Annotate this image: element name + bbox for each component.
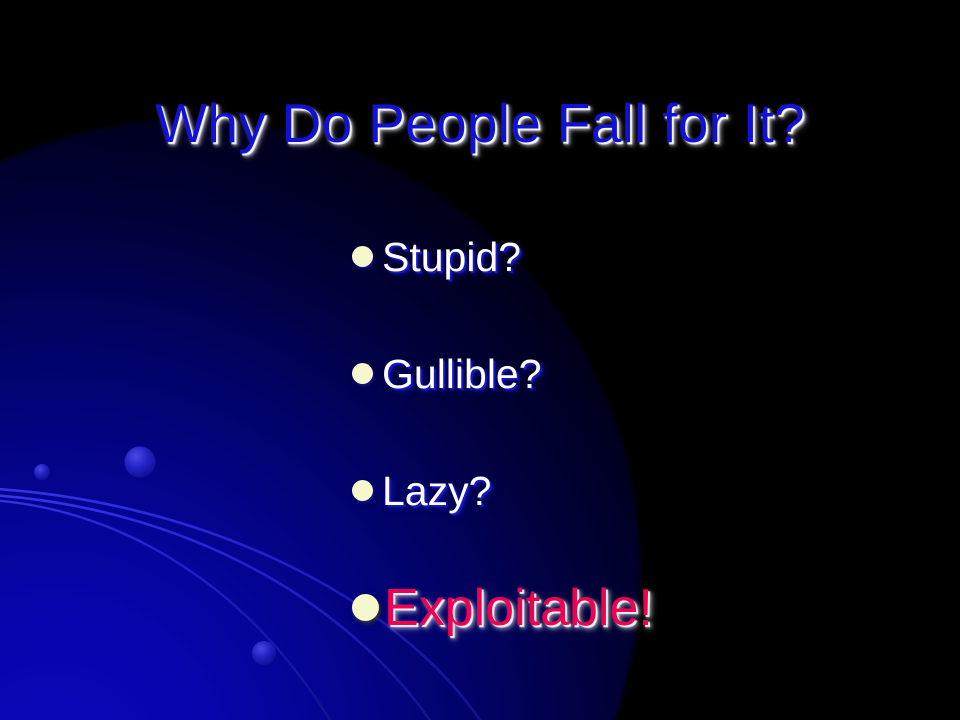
bullet-label: Gullible? <box>382 352 542 396</box>
bullet-marker-icon <box>352 246 373 267</box>
bullet-label: Lazy? <box>382 469 491 513</box>
bullet-marker-icon <box>352 480 373 501</box>
slide-title: Why Do People Fall for It? <box>0 93 960 153</box>
bullet-item-exploitable[interactable]: Exploitable! <box>352 549 912 666</box>
bullet-list: Stupid? Gullible? Lazy? Exploitable! <box>352 198 912 666</box>
bullet-label-emphasis: Exploitable! <box>384 580 653 636</box>
bullet-marker-icon <box>352 363 373 384</box>
bullet-marker-icon <box>352 594 379 621</box>
bullet-label: Stupid? <box>382 235 521 279</box>
presentation-slide: Why Do People Fall for It? Stupid? Gulli… <box>0 0 960 720</box>
bullet-item-gullible[interactable]: Gullible? <box>352 315 912 432</box>
bullet-item-lazy[interactable]: Lazy? <box>352 432 912 549</box>
bullet-item-stupid[interactable]: Stupid? <box>352 198 912 315</box>
